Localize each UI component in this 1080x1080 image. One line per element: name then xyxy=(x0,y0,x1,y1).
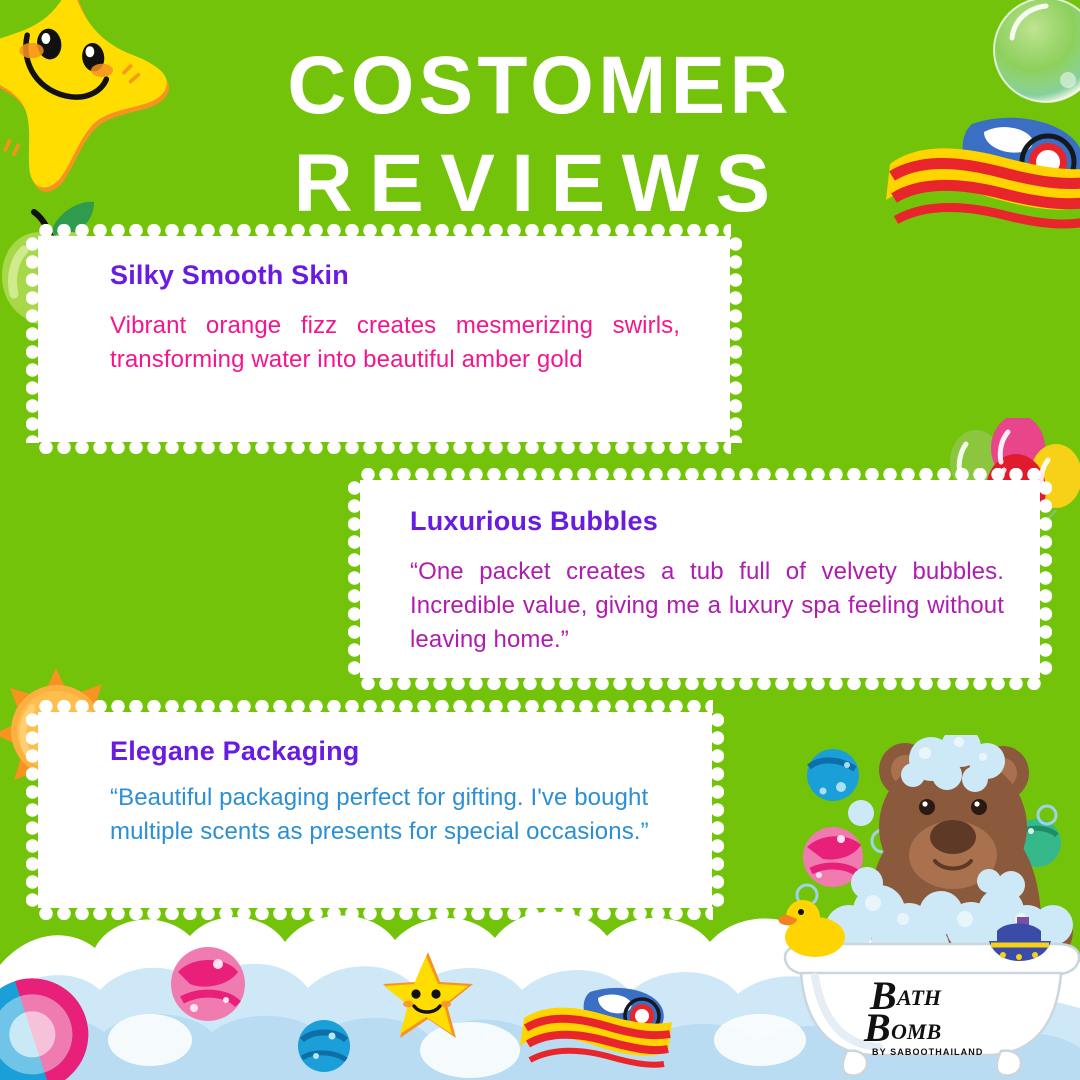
card-scallop-left xyxy=(26,711,39,909)
toy-boat-bottom-icon xyxy=(516,982,676,1080)
teddy-bear-in-bathtub-icon: B ATH B OMB BY SABOOTHAILAND xyxy=(775,735,1080,1080)
bath-bomb-blue-bottom-icon xyxy=(296,1018,352,1074)
title-line-2: REVIEWS xyxy=(0,143,1080,225)
review-1-heading: Silky Smooth Skin xyxy=(110,260,730,291)
title-line-1: COSTOMER xyxy=(0,45,1080,127)
svg-text:BY SABOOTHAILAND: BY SABOOTHAILAND xyxy=(872,1047,983,1057)
review-2-body: “One packet creates a tub full of velvet… xyxy=(410,555,1004,657)
swim-ring-icon xyxy=(0,960,120,1080)
card-scallop-left xyxy=(348,479,361,679)
review-card-3: Elegane Packaging “Beautiful packaging p… xyxy=(38,712,712,908)
poster-canvas: B ATH B OMB BY SABOOTHAILAND xyxy=(0,0,1080,1080)
review-3-heading: Elegane Packaging xyxy=(110,736,712,767)
page-title: COSTOMER REVIEWS xyxy=(0,45,1080,225)
card-scallop-right xyxy=(729,235,742,443)
card-scallop-left xyxy=(26,235,39,443)
card-scallop-right xyxy=(1039,479,1052,679)
svg-text:ATH: ATH xyxy=(895,985,942,1010)
bath-bomb-blue-icon xyxy=(807,749,859,801)
review-3-body: “Beautiful packaging perfect for gifting… xyxy=(110,781,672,849)
smiling-star-small-icon xyxy=(378,948,478,1048)
review-1-body: Vibrant orange fizz creates mesmerizing … xyxy=(110,309,680,377)
svg-text:B: B xyxy=(863,1005,891,1050)
review-2-heading: Luxurious Bubbles xyxy=(410,506,1040,537)
review-card-1: Silky Smooth Skin Vibrant orange fizz cr… xyxy=(38,236,730,442)
card-scallop-right xyxy=(711,711,724,909)
bath-bomb-pink-bottom-icon xyxy=(168,944,248,1024)
review-card-2: Luxurious Bubbles “One packet creates a … xyxy=(360,480,1040,678)
svg-text:OMB: OMB xyxy=(891,1019,941,1044)
